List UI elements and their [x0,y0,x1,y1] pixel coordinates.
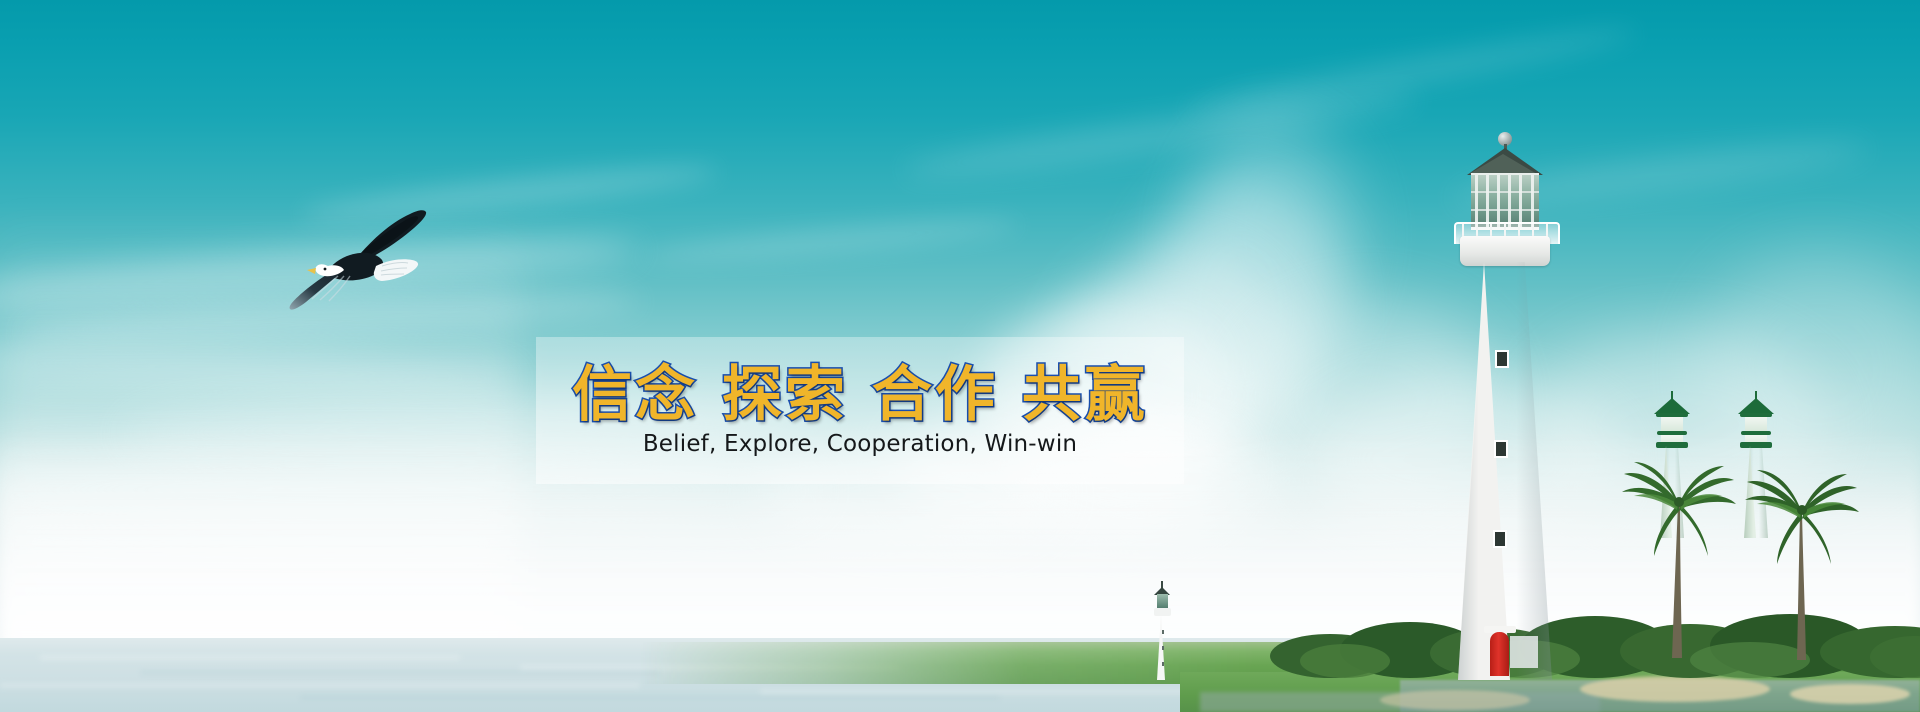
tower-mid [1661,417,1683,432]
palm-tree-left [1620,462,1740,682]
tower-roof [1654,398,1690,414]
lighthouse-plaque [1510,636,1538,668]
lighthouse-roof-highlight [1469,154,1537,174]
bush [1300,644,1390,678]
lighthouse-window [1495,350,1509,368]
lantern-mullion [1486,175,1489,227]
lighthouse-lantern [1157,594,1168,609]
small-lighthouse [1148,586,1178,684]
slogan-subline-english: Belief, Explore, Cooperation, Win-win [643,431,1077,457]
water-streak [300,696,1000,699]
water-streak [140,671,660,674]
water-streak [40,656,460,659]
palm-tree-right [1742,470,1862,682]
lantern-ring [1471,191,1539,193]
lighthouse-window [1162,646,1164,650]
lantern-mullion [1508,175,1511,227]
lighthouse-window [1493,530,1507,548]
slogan-panel: 信念 探索 合作 共赢 Belief, Explore, Cooperation… [536,337,1184,484]
lantern-mullion [1475,175,1478,227]
lighthouse-door [1490,632,1509,676]
lantern-mullion [1497,175,1500,227]
hero-banner: 信念 探索 合作 共赢 Belief, Explore, Cooperation… [0,0,1920,712]
sand-bunker [1790,684,1910,704]
lighthouse-window [1162,662,1164,666]
water-streak [760,690,1220,693]
lantern-mullion [1531,175,1534,227]
lantern-ring [1471,209,1539,211]
sand-bunker [1380,690,1530,710]
bald-eagle-icon [288,196,428,312]
tower-roof [1738,398,1774,414]
slogan-headline-chinese: 信念 探索 合作 共赢 [572,365,1148,425]
lighthouse-window [1162,630,1164,634]
main-lighthouse [1440,140,1570,680]
lantern-mullion [1519,175,1522,227]
water-streak [0,684,640,687]
lighthouse-window [1494,440,1508,458]
tower-mid [1745,417,1767,432]
